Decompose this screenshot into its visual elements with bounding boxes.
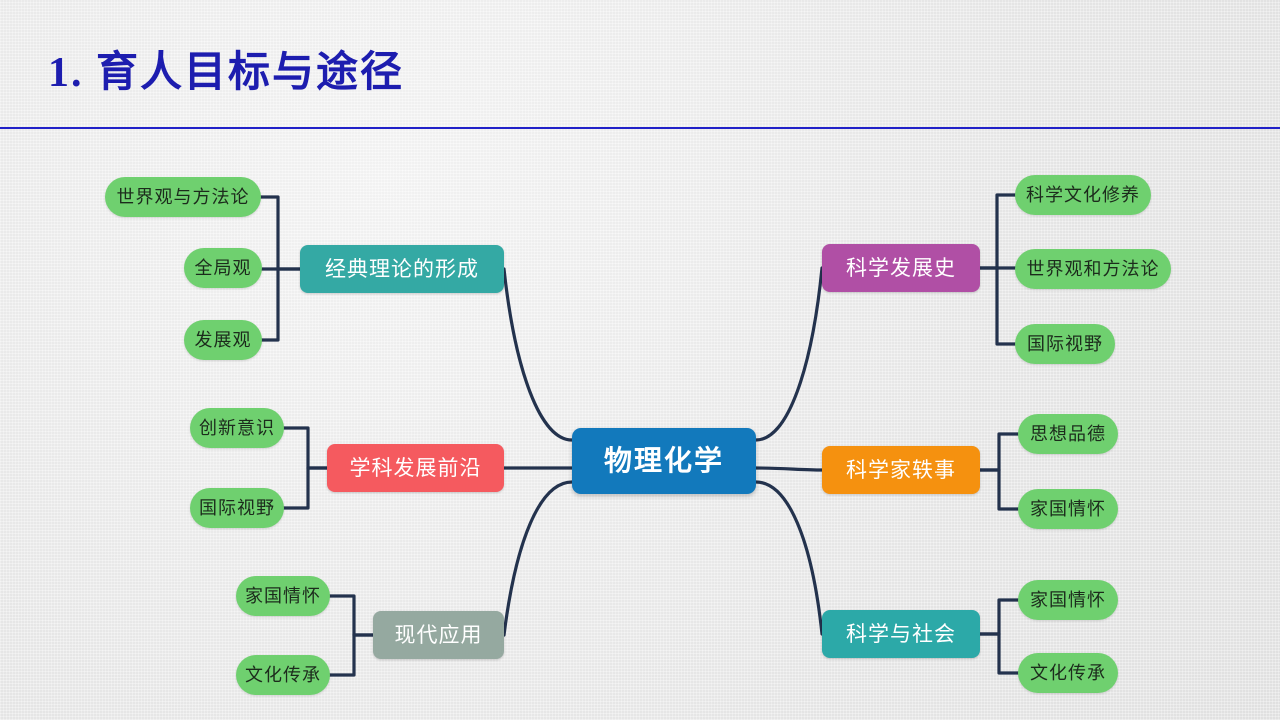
link-classical-to-child-1: [261, 197, 300, 269]
link-society-to-child-1: [980, 600, 1018, 634]
link-frontier-to-child-2: [284, 468, 308, 508]
branch-node-classical-theory[interactable]: 经典理论的形成: [300, 245, 504, 293]
leaf-node-patriotism-anecdotes[interactable]: 家国情怀: [1018, 489, 1118, 529]
leaf-node-patriotism-society[interactable]: 家国情怀: [1018, 580, 1118, 620]
link-classical-to-child-3: [261, 269, 278, 340]
leaf-node-innovation-awareness[interactable]: 创新意识: [190, 408, 284, 448]
branch-node-science-history[interactable]: 科学发展史: [822, 244, 980, 292]
mindmap: 物理化学 经典理论的形成 世界观与方法论 全局观 发展观 学科发展前沿 创新意识…: [0, 140, 1280, 720]
link-center-to-modern-app: [504, 482, 572, 635]
page-title: 1. 育人目标与途径: [48, 38, 404, 99]
link-center-to-society: [756, 482, 822, 634]
branch-node-modern-application[interactable]: 现代应用: [373, 611, 504, 659]
leaf-node-moral-character[interactable]: 思想品德: [1018, 414, 1118, 454]
branch-node-discipline-frontier[interactable]: 学科发展前沿: [327, 444, 504, 492]
central-node[interactable]: 物理化学: [572, 428, 756, 494]
link-society-to-child-2: [999, 634, 1018, 673]
leaf-node-worldview-methodology[interactable]: 世界观与方法论: [105, 177, 261, 217]
leaf-node-international-vision-history[interactable]: 国际视野: [1015, 324, 1115, 364]
link-center-to-history: [756, 268, 822, 440]
slide-canvas: 1. 育人目标与途径: [0, 0, 1280, 720]
page-title-text: 育人目标与途径: [96, 50, 404, 96]
link-modern-to-child-2: [330, 635, 354, 675]
title-divider: [0, 127, 1280, 129]
link-center-to-anecdotes: [756, 468, 822, 470]
link-modern-to-child-1: [330, 596, 373, 635]
link-history-to-child-1: [980, 195, 1015, 268]
link-center-to-classical-theory: [504, 269, 572, 440]
page-title-number: 1.: [48, 50, 84, 96]
leaf-node-global-view[interactable]: 全局观: [184, 248, 262, 288]
branch-node-scientist-anecdotes[interactable]: 科学家轶事: [822, 446, 980, 494]
leaf-node-patriotism-modern[interactable]: 家国情怀: [236, 576, 330, 616]
link-anecdotes-to-child-2: [999, 470, 1018, 509]
leaf-node-cultural-heritage-society[interactable]: 文化传承: [1018, 653, 1118, 693]
leaf-node-cultural-heritage-modern[interactable]: 文化传承: [236, 655, 330, 695]
branch-node-science-and-society[interactable]: 科学与社会: [822, 610, 980, 658]
leaf-node-international-vision-frontier[interactable]: 国际视野: [190, 488, 284, 528]
leaf-node-scientific-culture[interactable]: 科学文化修养: [1015, 175, 1151, 215]
leaf-node-development-view[interactable]: 发展观: [184, 320, 262, 360]
link-frontier-to-child-1: [284, 428, 327, 468]
link-history-to-child-3: [997, 268, 1015, 344]
leaf-node-worldview-and-methodology[interactable]: 世界观和方法论: [1015, 249, 1171, 289]
link-anecdotes-to-child-1: [980, 434, 1018, 470]
